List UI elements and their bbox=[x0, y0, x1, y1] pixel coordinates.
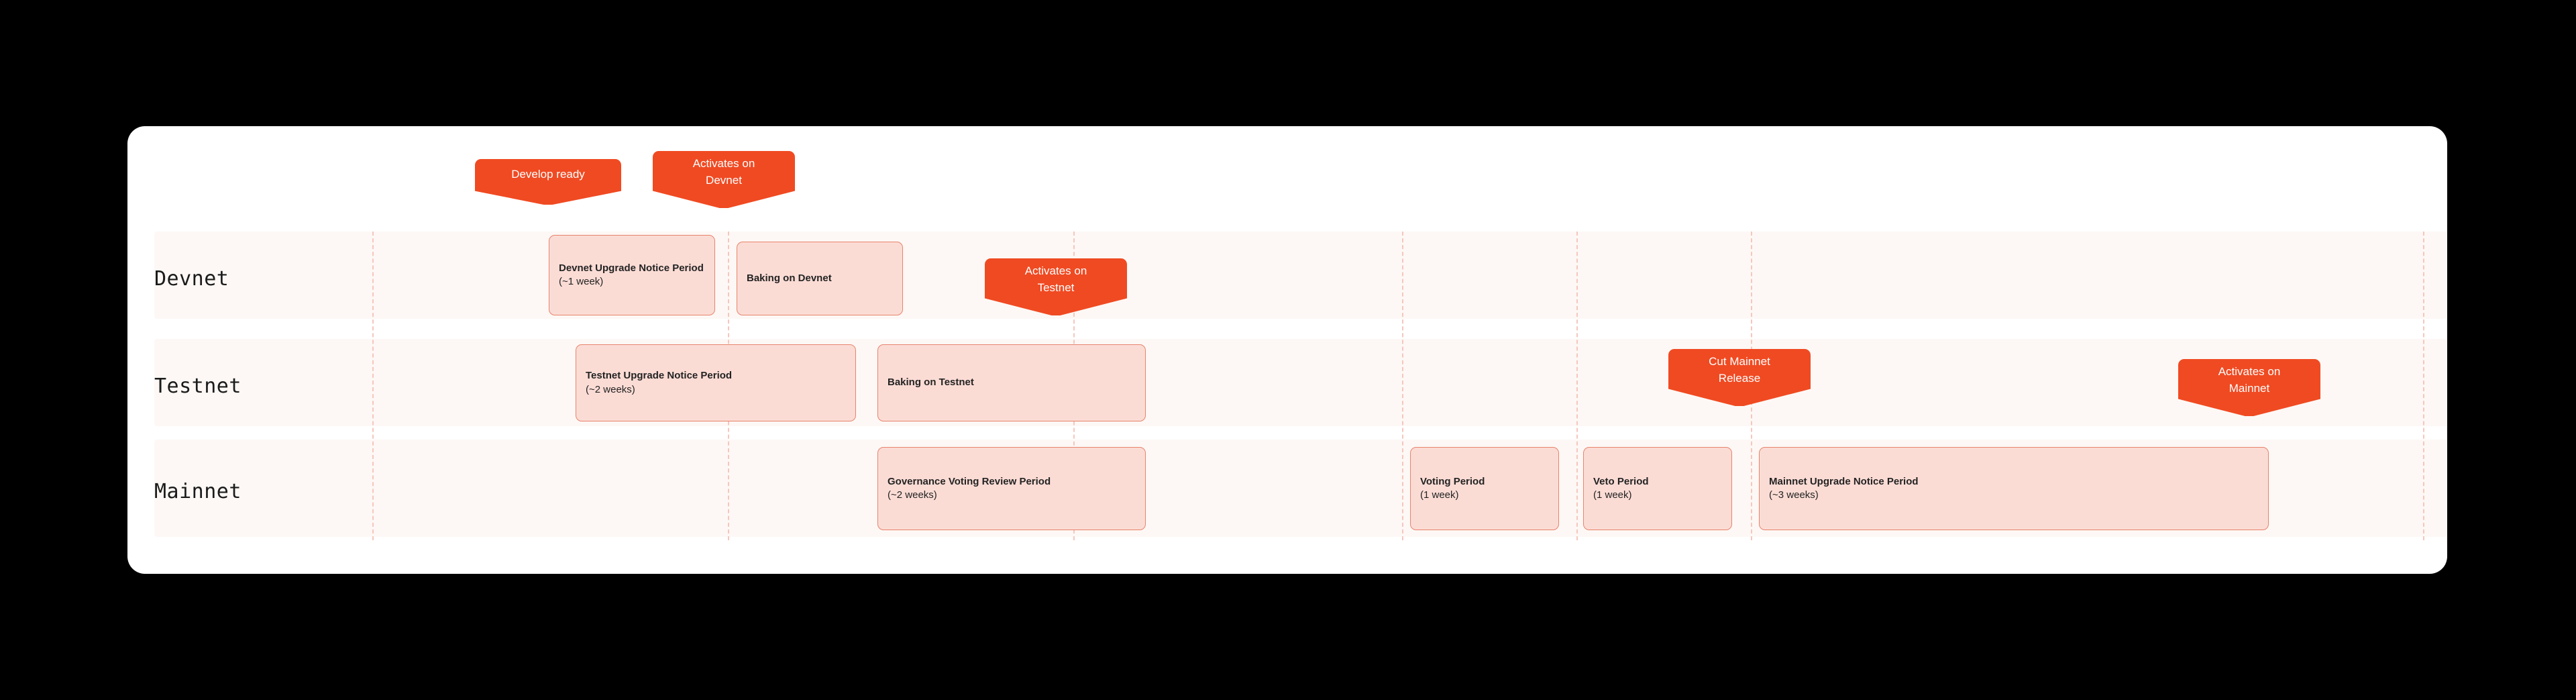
period-duration: (~2 weeks) bbox=[586, 383, 846, 397]
marker-line-1: Activates on bbox=[693, 157, 755, 170]
marker-line-2: Devnet bbox=[706, 174, 742, 187]
row-band-testnet bbox=[154, 339, 2447, 426]
marker-line-1: Cut Mainnet bbox=[1709, 355, 1770, 368]
period-box-baking-devnet[interactable]: Baking on Devnet bbox=[737, 242, 903, 315]
marker-line-1: Develop ready bbox=[511, 168, 585, 181]
row-label-testnet: Testnet bbox=[154, 377, 241, 397]
gridline-4 bbox=[1402, 232, 1403, 540]
period-duration: (1 week) bbox=[1420, 489, 1549, 502]
period-title: Baking on Devnet bbox=[747, 272, 893, 285]
row-label-devnet: Devnet bbox=[154, 269, 229, 289]
period-box-devnet-notice[interactable]: Devnet Upgrade Notice Period (~1 week) bbox=[549, 235, 715, 315]
diagram-stage: Devnet Testnet Mainnet Devnet Upgrade No… bbox=[0, 0, 2576, 700]
gridline-1 bbox=[372, 232, 374, 540]
period-title: Testnet Upgrade Notice Period bbox=[586, 369, 846, 383]
period-box-testnet-notice[interactable]: Testnet Upgrade Notice Period (~2 weeks) bbox=[576, 344, 856, 421]
period-title: Voting Period bbox=[1420, 475, 1549, 489]
period-duration: (~3 weeks) bbox=[1769, 489, 2259, 502]
period-box-mainnet-notice[interactable]: Mainnet Upgrade Notice Period (~3 weeks) bbox=[1759, 447, 2269, 530]
marker-line-1: Activates on bbox=[1025, 264, 1087, 277]
row-label-mainnet: Mainnet bbox=[154, 482, 241, 502]
period-title: Governance Voting Review Period bbox=[888, 475, 1136, 489]
period-duration: (~1 week) bbox=[559, 275, 705, 289]
period-title: Baking on Testnet bbox=[888, 376, 1136, 389]
period-duration: (~2 weeks) bbox=[888, 489, 1136, 502]
period-box-voting[interactable]: Voting Period (1 week) bbox=[1410, 447, 1559, 530]
marker-line-2: Release bbox=[1719, 372, 1760, 385]
period-box-governance-review[interactable]: Governance Voting Review Period (~2 week… bbox=[877, 447, 1146, 530]
period-title: Veto Period bbox=[1593, 475, 1722, 489]
marker-line-1: Activates on bbox=[2218, 365, 2281, 378]
gridline-7 bbox=[2423, 232, 2424, 540]
period-box-veto[interactable]: Veto Period (1 week) bbox=[1583, 447, 1732, 530]
period-title: Devnet Upgrade Notice Period bbox=[559, 262, 705, 275]
gridline-5 bbox=[1576, 232, 1578, 540]
timeline-card: Devnet Testnet Mainnet Devnet Upgrade No… bbox=[127, 126, 2447, 574]
marker-line-2: Mainnet bbox=[2229, 382, 2269, 395]
period-duration: (1 week) bbox=[1593, 489, 1722, 502]
row-band-devnet bbox=[154, 232, 2447, 319]
marker-line-2: Testnet bbox=[1038, 281, 1075, 294]
period-title: Mainnet Upgrade Notice Period bbox=[1769, 475, 2259, 489]
period-box-baking-testnet[interactable]: Baking on Testnet bbox=[877, 344, 1146, 421]
